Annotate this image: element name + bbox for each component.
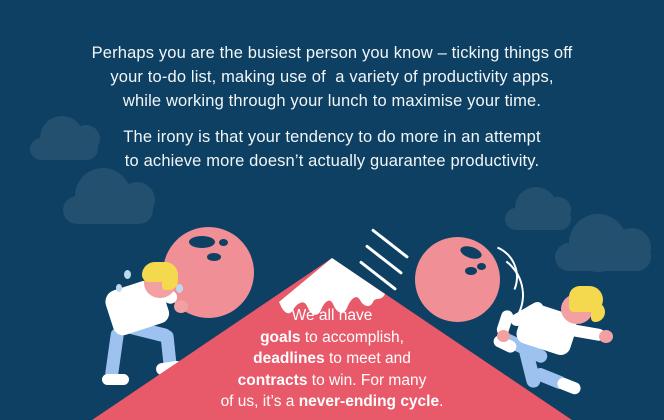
banner-line-4-rest: to win. For many	[307, 372, 426, 389]
person-running-from-boulder	[495, 280, 615, 410]
banner-line-2-rest: to accomplish,	[301, 329, 404, 346]
banner-line-5-pre: of us, it’s a	[221, 393, 299, 410]
shoe-front	[556, 376, 583, 396]
hair-tuft	[591, 302, 605, 322]
banner-line-1: We all have	[182, 305, 482, 327]
banner-line-3-rest: to meet and	[325, 350, 411, 367]
banner-line-5-post: .	[439, 393, 443, 410]
hand-front	[599, 330, 613, 343]
banner-line-2: goals to accomplish,	[182, 327, 482, 349]
banner-bold-contracts: contracts	[238, 372, 308, 389]
banner-line-3: deadlines to meet and	[182, 348, 482, 370]
banner-bold-deadlines: deadlines	[253, 350, 325, 367]
banner-line-4: contracts to win. For many	[182, 370, 482, 392]
banner-line-5: of us, it’s a never-ending cycle.	[182, 391, 482, 413]
infographic-canvas: Perhaps you are the busiest person you k…	[0, 0, 664, 420]
banner-bold-goals: goals	[260, 329, 300, 346]
banner-bold-never-ending-cycle: never-ending cycle	[299, 393, 439, 410]
mountain-banner-text: We all have goals to accomplish, deadlin…	[182, 305, 482, 413]
hand-back	[497, 330, 510, 342]
